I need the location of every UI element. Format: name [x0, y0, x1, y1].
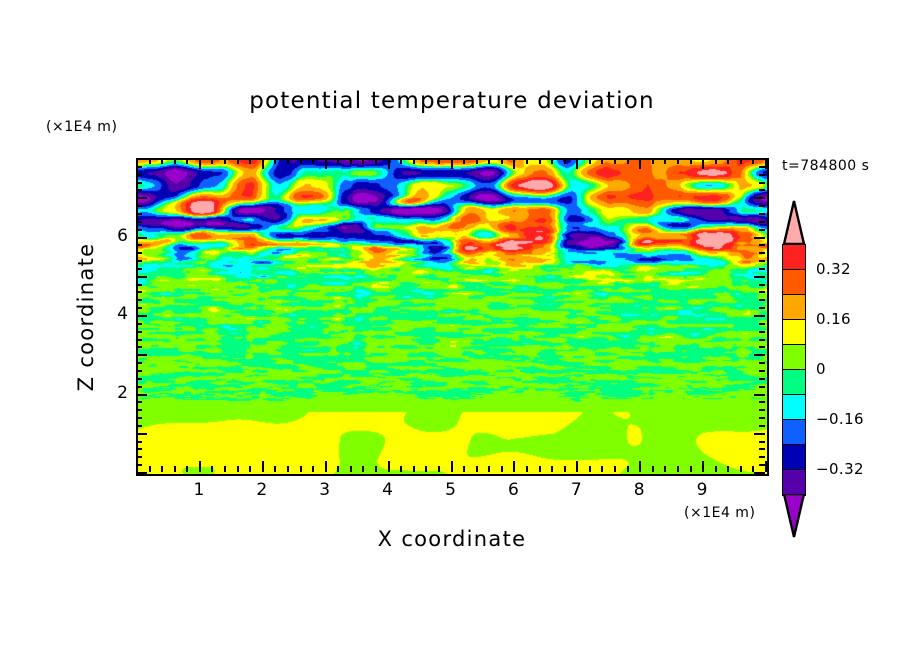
- axis-tick: [388, 461, 390, 472]
- axis-tick: [759, 307, 765, 309]
- axis-tick: [601, 158, 603, 164]
- axis-tick: [337, 158, 339, 164]
- axis-tick: [136, 291, 142, 293]
- axis-tick: [759, 386, 765, 388]
- axis-tick: [136, 268, 142, 270]
- axis-tick: [754, 472, 765, 474]
- axis-tick: [759, 425, 765, 427]
- axis-tick: [759, 456, 765, 458]
- axis-tick: [677, 158, 679, 164]
- axis-tick: [551, 158, 553, 164]
- axis-tick: [513, 461, 515, 472]
- axis-tick: [539, 466, 541, 472]
- colorbar-band: [782, 394, 806, 421]
- axis-tick: [501, 466, 503, 472]
- axis-tick: [652, 466, 654, 472]
- axis-tick: [759, 244, 765, 246]
- axis-tick: [375, 466, 377, 472]
- axis-tick: [715, 466, 717, 472]
- axis-tick: [614, 466, 616, 472]
- axis-tick: [488, 158, 490, 164]
- axis-tick: [759, 291, 765, 293]
- x-axis-title: X coordinate: [0, 527, 904, 551]
- axis-tick: [627, 158, 629, 164]
- colorbar-tick-label: −0.16: [816, 410, 864, 428]
- axis-tick: [759, 174, 765, 176]
- axis-tick: [451, 158, 453, 169]
- colorbar-tick-label: 0.32: [816, 260, 851, 278]
- axis-tick: [759, 213, 765, 215]
- axis-tick: [513, 158, 515, 169]
- colorbar: [782, 200, 806, 520]
- x-tick-label: 1: [179, 480, 219, 500]
- axis-tick: [174, 466, 176, 472]
- axis-tick: [564, 158, 566, 164]
- axis-tick: [589, 466, 591, 472]
- axis-tick: [759, 370, 765, 372]
- axis-tick: [136, 417, 142, 419]
- axis-tick: [576, 461, 578, 472]
- axis-tick: [727, 466, 729, 472]
- axis-tick: [312, 158, 314, 164]
- axis-tick: [463, 466, 465, 472]
- axis-tick: [564, 466, 566, 472]
- axis-tick: [136, 448, 142, 450]
- axis-tick: [740, 466, 742, 472]
- time-annotation: t=784800 s: [782, 158, 869, 174]
- axis-tick: [161, 158, 163, 164]
- axis-tick: [136, 158, 147, 160]
- axis-tick: [740, 158, 742, 164]
- axis-tick: [727, 158, 729, 164]
- axis-tick: [136, 213, 142, 215]
- axis-tick: [136, 182, 142, 184]
- axis-tick: [350, 158, 352, 164]
- axis-tick: [754, 315, 765, 317]
- axis-tick: [438, 158, 440, 164]
- axis-tick: [136, 409, 142, 411]
- axis-tick: [300, 158, 302, 164]
- x-tick-label: 5: [431, 480, 471, 500]
- axis-tick: [451, 461, 453, 472]
- x-tick-label: 6: [493, 480, 533, 500]
- axis-tick: [211, 158, 213, 164]
- axis-tick: [136, 370, 142, 372]
- axis-tick: [754, 394, 765, 396]
- x-tick-label: 8: [619, 480, 659, 500]
- axis-tick: [136, 425, 142, 427]
- x-tick-label: 7: [556, 480, 596, 500]
- axis-tick: [652, 158, 654, 164]
- axis-tick: [759, 339, 765, 341]
- axis-tick: [136, 307, 142, 309]
- axis-tick: [350, 466, 352, 472]
- axis-tick: [627, 466, 629, 472]
- axis-tick: [526, 466, 528, 472]
- axis-tick: [136, 299, 142, 301]
- axis-tick: [614, 158, 616, 164]
- colorbar-band: [782, 294, 806, 321]
- axis-tick: [249, 158, 251, 164]
- axis-tick: [759, 441, 765, 443]
- axis-tick: [400, 158, 402, 164]
- axis-tick: [136, 464, 142, 466]
- x-tick-label: 3: [305, 480, 345, 500]
- axis-tick: [754, 197, 765, 199]
- axis-tick: [765, 158, 767, 169]
- scalar-field-canvas: [138, 160, 767, 474]
- axis-tick: [759, 205, 765, 207]
- x-tick-label: 9: [682, 480, 722, 500]
- axis-tick: [501, 158, 503, 164]
- axis-tick: [136, 237, 147, 239]
- axis-tick: [759, 464, 765, 466]
- axis-tick: [211, 466, 213, 472]
- axis-tick: [136, 323, 142, 325]
- axis-tick: [759, 417, 765, 419]
- axis-tick: [759, 331, 765, 333]
- axis-tick: [312, 466, 314, 472]
- axis-tick: [186, 158, 188, 164]
- y-tick-label: 4: [88, 304, 128, 324]
- axis-tick: [759, 323, 765, 325]
- axis-tick: [759, 362, 765, 364]
- axis-tick: [759, 284, 765, 286]
- axis-tick: [539, 158, 541, 164]
- axis-tick: [136, 378, 142, 380]
- axis-tick: [287, 466, 289, 472]
- axis-tick: [759, 166, 765, 168]
- axis-tick: [224, 158, 226, 164]
- axis-tick: [690, 466, 692, 472]
- colorbar-band: [782, 369, 806, 396]
- horizontal-axis-unit-label: (×1E4 m): [684, 505, 755, 521]
- axis-tick: [274, 158, 276, 164]
- axis-tick: [759, 260, 765, 262]
- axis-tick: [754, 276, 765, 278]
- axis-tick: [759, 189, 765, 191]
- axis-tick: [759, 448, 765, 450]
- axis-tick: [551, 466, 553, 472]
- axis-tick: [754, 433, 765, 435]
- axis-tick: [136, 221, 142, 223]
- colorbar-band: [782, 344, 806, 371]
- axis-tick: [149, 466, 151, 472]
- axis-tick: [262, 461, 264, 472]
- axis-tick: [754, 237, 765, 239]
- axis-tick: [325, 461, 327, 472]
- axis-tick: [149, 158, 151, 164]
- axis-tick: [136, 461, 138, 472]
- axis-tick: [425, 158, 427, 164]
- axis-tick: [664, 466, 666, 472]
- colorbar-under-arrow: [782, 494, 806, 538]
- axis-tick: [754, 354, 765, 356]
- axis-tick: [136, 189, 142, 191]
- axis-tick: [759, 401, 765, 403]
- axis-tick: [136, 197, 147, 199]
- axis-tick: [702, 461, 704, 472]
- axis-tick: [174, 158, 176, 164]
- colorbar-over-arrow: [782, 200, 806, 244]
- colorbar-band: [782, 244, 806, 271]
- colorbar-band: [782, 469, 806, 496]
- axis-tick: [136, 244, 142, 246]
- axis-tick: [677, 466, 679, 472]
- y-tick-label: 6: [88, 226, 128, 246]
- axis-tick: [759, 229, 765, 231]
- axis-tick: [759, 346, 765, 348]
- colorbar-band: [782, 319, 806, 346]
- axis-tick: [224, 466, 226, 472]
- axis-tick: [639, 461, 641, 472]
- axis-tick: [375, 158, 377, 164]
- axis-tick: [759, 268, 765, 270]
- axis-tick: [136, 456, 142, 458]
- contour-figure: potential temperature deviation (×1E4 m)…: [0, 0, 904, 654]
- axis-tick: [237, 466, 239, 472]
- axis-tick: [136, 260, 142, 262]
- vertical-axis-unit-label: (×1E4 m): [46, 119, 117, 135]
- axis-tick: [413, 466, 415, 472]
- axis-tick: [325, 158, 327, 169]
- colorbar-tick-label: 0.16: [816, 310, 851, 328]
- axis-tick: [759, 221, 765, 223]
- axis-tick: [136, 284, 142, 286]
- axis-tick: [136, 441, 142, 443]
- axis-tick: [759, 252, 765, 254]
- axis-tick: [136, 433, 147, 435]
- axis-tick: [337, 466, 339, 472]
- axis-tick: [765, 461, 767, 472]
- axis-tick: [262, 158, 264, 169]
- axis-tick: [300, 466, 302, 472]
- axis-tick: [136, 252, 142, 254]
- colorbar-tick-label: −0.32: [816, 460, 864, 478]
- colorbar-tick-label: 0: [816, 360, 826, 378]
- axis-tick: [438, 466, 440, 472]
- axis-tick: [199, 461, 201, 472]
- colorbar-band: [782, 444, 806, 471]
- axis-tick: [136, 472, 147, 474]
- axis-tick: [759, 378, 765, 380]
- axis-tick: [488, 466, 490, 472]
- axis-tick: [601, 466, 603, 472]
- axis-tick: [136, 229, 142, 231]
- axis-tick: [136, 166, 142, 168]
- axis-tick: [136, 315, 147, 317]
- axis-tick: [759, 182, 765, 184]
- axis-tick: [186, 466, 188, 472]
- axis-tick: [136, 174, 142, 176]
- colorbar-band: [782, 269, 806, 296]
- axis-tick: [639, 158, 641, 169]
- x-tick-label: 2: [242, 480, 282, 500]
- axis-tick: [526, 158, 528, 164]
- figure-title: potential temperature deviation: [0, 88, 904, 114]
- axis-tick: [237, 158, 239, 164]
- axis-tick: [463, 158, 465, 164]
- axis-tick: [136, 339, 142, 341]
- axis-tick: [362, 158, 364, 164]
- axis-tick: [136, 346, 142, 348]
- axis-tick: [476, 158, 478, 164]
- axis-tick: [476, 466, 478, 472]
- plot-area: [136, 158, 769, 476]
- axis-tick: [759, 299, 765, 301]
- axis-tick: [425, 466, 427, 472]
- axis-tick: [690, 158, 692, 164]
- axis-tick: [754, 158, 765, 160]
- axis-tick: [249, 466, 251, 472]
- axis-tick: [702, 158, 704, 169]
- axis-tick: [759, 409, 765, 411]
- axis-tick: [136, 401, 142, 403]
- axis-tick: [136, 386, 142, 388]
- axis-tick: [199, 158, 201, 169]
- axis-tick: [136, 276, 147, 278]
- y-tick-label: 2: [88, 383, 128, 403]
- axis-tick: [715, 158, 717, 164]
- axis-tick: [388, 158, 390, 169]
- axis-tick: [136, 354, 147, 356]
- axis-tick: [362, 466, 364, 472]
- x-tick-label: 4: [368, 480, 408, 500]
- axis-tick: [400, 466, 402, 472]
- axis-tick: [274, 466, 276, 472]
- axis-tick: [287, 158, 289, 164]
- axis-tick: [136, 362, 142, 364]
- axis-tick: [136, 331, 142, 333]
- axis-tick: [136, 205, 142, 207]
- axis-tick: [413, 158, 415, 164]
- axis-tick: [589, 158, 591, 164]
- axis-tick: [161, 466, 163, 472]
- axis-tick: [136, 394, 147, 396]
- axis-tick: [664, 158, 666, 164]
- axis-tick: [576, 158, 578, 169]
- colorbar-band: [782, 419, 806, 446]
